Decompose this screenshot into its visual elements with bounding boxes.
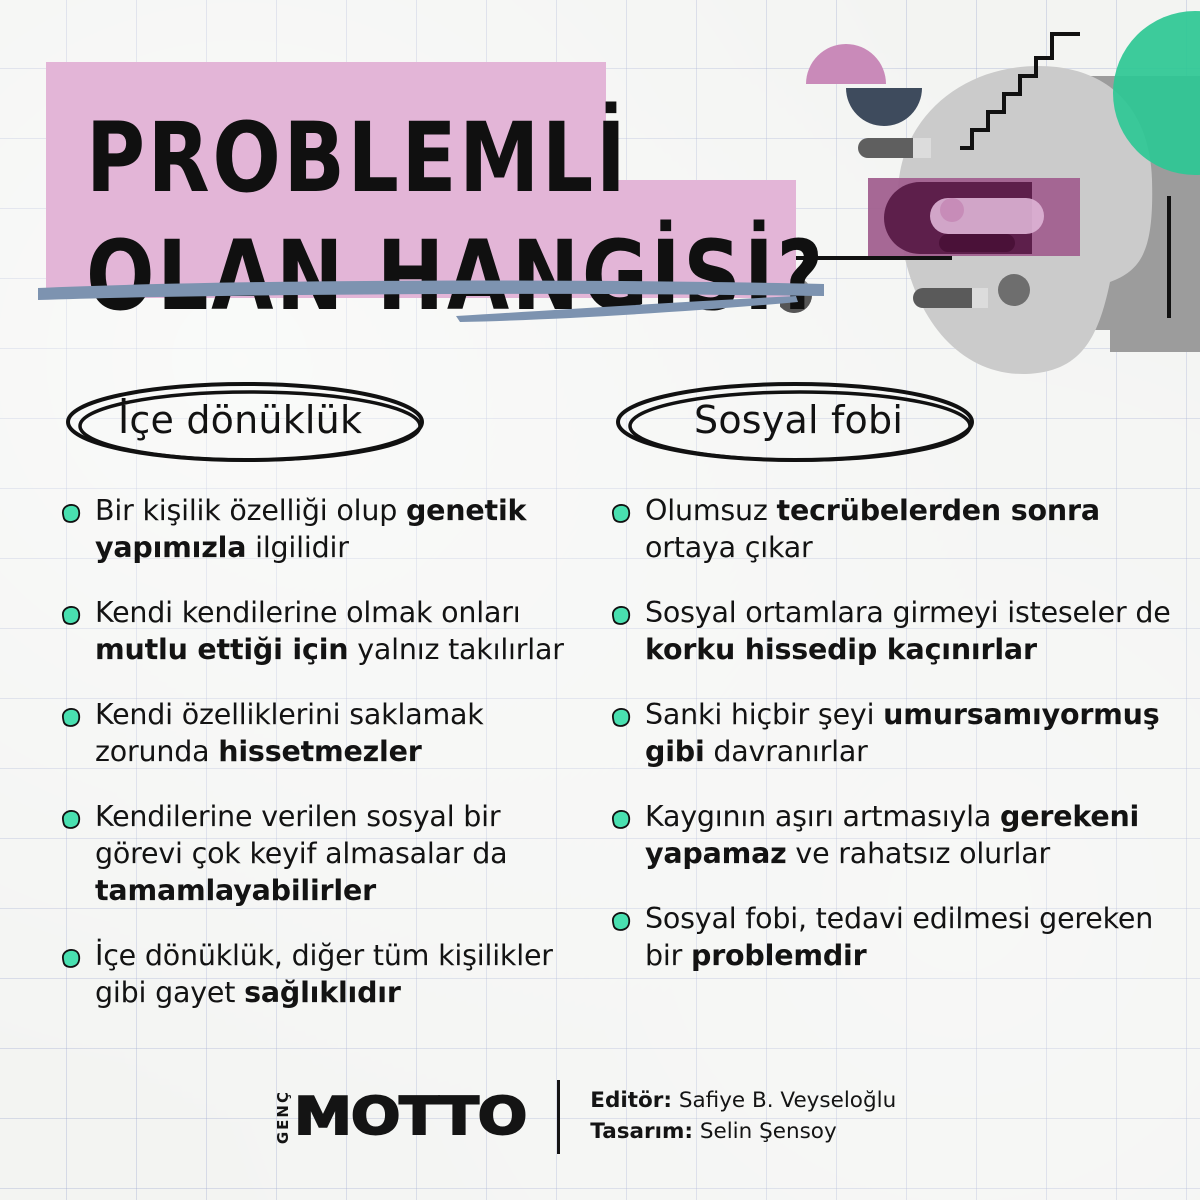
heading-sosyal-fobi: Sosyal fobi <box>610 378 1190 474</box>
logo-motto-text: MOTTO <box>294 1087 526 1147</box>
pink-half-circle <box>806 44 886 84</box>
heading-label-right: Sosyal fobi <box>694 398 903 442</box>
logo-genc-text: GENÇ <box>276 1090 291 1144</box>
bullet-list-left: Bir kişilik özelliği olup genetik yapımı… <box>60 492 580 1012</box>
list-item-text: Sosyal fobi, tedavi edilmesi gereken bir… <box>645 900 1190 974</box>
title-block: PROBLEMLİ OLAN HANGİSİ? <box>46 62 806 298</box>
list-item: Kendi özelliklerini saklamak zorunda his… <box>60 696 580 770</box>
list-item: Kendi kendilerine olmak onları mutlu ett… <box>60 594 580 668</box>
list-item: Olumsuz tecrübelerden sonra ortaya çıkar <box>610 492 1190 566</box>
page-title-line1: PROBLEMLİ <box>86 101 628 214</box>
green-blob-bullet-icon <box>60 605 81 630</box>
genc-motto-logo[interactable]: GENÇ MOTTO <box>276 1087 501 1147</box>
black-vertical-line <box>1167 196 1171 318</box>
green-blob-bullet-icon <box>60 809 81 834</box>
list-item-text: Kendi kendilerine olmak onları mutlu ett… <box>95 594 580 668</box>
credit-line-designer: Tasarım: Selin Şensoy <box>590 1117 896 1148</box>
navy-half-circle <box>846 88 922 126</box>
green-blob-bullet-icon <box>610 605 631 630</box>
title-underline-brushstroke <box>36 272 826 328</box>
green-blob-bullet-icon <box>610 707 631 732</box>
green-blob-bullet-icon <box>60 707 81 732</box>
column-sosyal-fobi: Sosyal fobi Olumsuz tecrübelerden sonra … <box>610 378 1190 1002</box>
purple-capsule <box>884 182 1044 254</box>
list-item: Sosyal ortamlara girmeyi isteseler de ko… <box>610 594 1190 668</box>
list-item: Kendilerine verilen sosyal bir görevi ço… <box>60 798 580 909</box>
credit-line-editor: Editör: Safiye B. Veyseloğlu <box>590 1086 896 1117</box>
bullet-list-right: Olumsuz tecrübelerden sonra ortaya çıkar… <box>610 492 1190 974</box>
green-blob-bullet-icon <box>60 503 81 528</box>
green-blob-bullet-icon <box>610 503 631 528</box>
decorative-artwork <box>780 0 1200 380</box>
list-item-text: Kaygının aşırı artmasıyla gerekeni yapam… <box>645 798 1190 872</box>
heading-ice-donukluk: İçe dönüklük <box>60 378 580 474</box>
list-item: Kaygının aşırı artmasıyla gerekeni yapam… <box>610 798 1190 872</box>
footer: GENÇ MOTTO Editör: Safiye B. Veyseloğlu … <box>0 1072 1200 1162</box>
green-blob-bullet-icon <box>610 911 631 936</box>
list-item-text: Bir kişilik özelliği olup genetik yapımı… <box>95 492 580 566</box>
heading-label-left: İçe dönüklük <box>118 398 362 442</box>
column-ice-donukluk: İçe dönüklük Bir kişilik özelliği olup g… <box>60 378 580 1040</box>
list-item-text: Olumsuz tecrübelerden sonra ortaya çıkar <box>645 492 1190 566</box>
list-item: Bir kişilik özelliği olup genetik yapımı… <box>60 492 580 566</box>
credits: Editör: Safiye B. Veyseloğlu Tasarım: Se… <box>590 1086 896 1147</box>
infographic-page: PROBLEMLİ OLAN HANGİSİ? İçe dönüklük <box>0 0 1200 1200</box>
list-item: İçe dönüklük, diğer tüm kişilikler gibi … <box>60 937 580 1011</box>
list-item-text: İçe dönüklük, diğer tüm kişilikler gibi … <box>95 937 580 1011</box>
list-item-text: Sanki hiçbir şeyi umursamıyormuş gibi da… <box>645 696 1190 770</box>
green-blob-bullet-icon <box>60 948 81 973</box>
footer-divider <box>557 1080 560 1154</box>
list-item: Sosyal fobi, tedavi edilmesi gereken bir… <box>610 900 1190 974</box>
green-blob-bullet-icon <box>610 809 631 834</box>
list-item: Sanki hiçbir şeyi umursamıyormuş gibi da… <box>610 696 1190 770</box>
list-item-text: Kendilerine verilen sosyal bir görevi ço… <box>95 798 580 909</box>
list-item-text: Sosyal ortamlara girmeyi isteseler de ko… <box>645 594 1190 668</box>
list-item-text: Kendi özelliklerini saklamak zorunda his… <box>95 696 580 770</box>
